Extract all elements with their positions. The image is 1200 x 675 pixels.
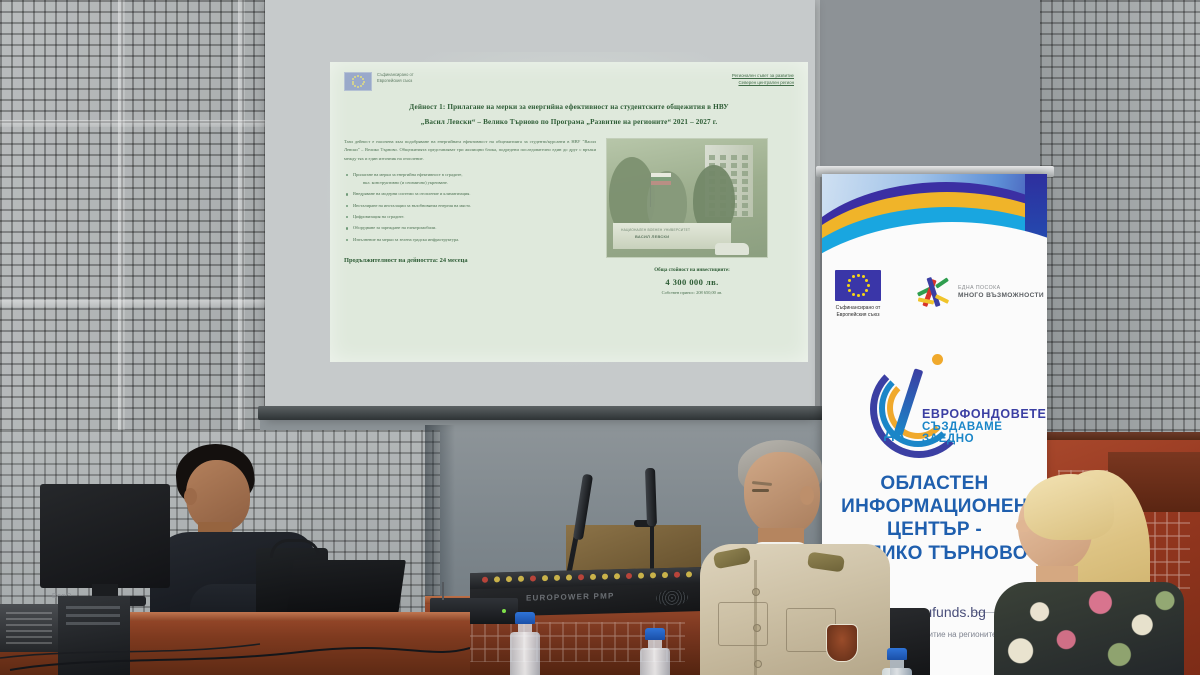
slide-bullet: Инсталиране на инсталации за възобновяем…: [344, 202, 596, 210]
one-direction-line1: ЕДНА ПОСОКА: [958, 285, 1044, 292]
desktop-monitor[interactable]: BenQ: [40, 484, 170, 604]
one-direction-line2: МНОГО ВЪЗМОЖНОСТИ: [958, 292, 1044, 301]
ear: [184, 488, 197, 505]
crossed-strokes-icon: [915, 275, 953, 311]
screen-bottom-bar: [258, 406, 824, 420]
slide-bullet-list: Прилагане на мерки за енергийна ефективн…: [344, 171, 596, 244]
water-bottle[interactable]: [882, 648, 912, 675]
slide-paragraph: Тази дейност е насочена към подобряване …: [344, 138, 596, 164]
slide-bullet: Прилагане на мерки за енергийна ефективн…: [344, 171, 596, 187]
eurofunds-line1: ЕВРОФОНДОВЕТЕ: [922, 408, 1046, 421]
banner-eu-caption-line2: Европейския съюз: [825, 312, 891, 319]
mixer-vent: [656, 589, 688, 606]
photo-vehicle: [715, 243, 749, 255]
conference-room-scene: Съфинансирано от Европейския съюз Регион…: [0, 0, 1200, 675]
investment-amount: 4 300 000 лв.: [606, 275, 778, 290]
slide-bullet: Оборудване за зареждане на електромобили…: [344, 224, 596, 232]
projected-slide: Съфинансирано от Европейския съюз Регион…: [330, 62, 808, 362]
eurofunds-line2: СЪЗДАВАМЕ ЗАЕДНО: [922, 421, 1046, 445]
slide-bullet: Внедряване на модерни системи за отоплен…: [344, 190, 596, 198]
slide-eu-cofinance-line2: Европейския съюз: [377, 78, 414, 84]
eu-flag-icon: [344, 72, 372, 91]
slide-bullet-sub: вкл. конструктивно (и сеизмично) укрепва…: [353, 179, 596, 187]
microphone: [645, 468, 657, 526]
photo-sign-wall: НАЦИОНАЛЕН ВОЕНЕН УНИВЕРСИТЕТ ВАСИЛ ЛЕВС…: [613, 223, 731, 249]
unit-patch: [826, 624, 858, 662]
bulgarian-flag-icon: [651, 173, 671, 185]
floral-blouse: [994, 582, 1184, 675]
water-bottle[interactable]: [510, 612, 540, 675]
slide-bullet: Цифровизация на сградите.: [344, 213, 596, 221]
acoustic-panel-wall-right: [1040, 0, 1200, 470]
council-line2: Северен централен регион: [732, 79, 794, 86]
investment-label: Обща стойност на инвестициите:: [606, 266, 778, 275]
shirt-pocket: [718, 602, 768, 646]
water-bottle[interactable]: [640, 628, 670, 675]
person-attendee: [988, 462, 1200, 675]
slide-title-line2: „Васил Левски“ – Велико Търново по Прогр…: [344, 115, 794, 130]
eye: [752, 489, 769, 492]
slide-bullet: Изпълнение на мерки за зелена градска ин…: [344, 236, 596, 244]
shirt-placket: [754, 560, 757, 675]
own-contribution: Собствен принос: 208 650,00 лв.: [606, 289, 778, 296]
banner-eu-logo: Съфинансирано от Европейския съюз: [825, 270, 891, 320]
investment-block: Обща стойност на инвестициите: 4 300 000…: [606, 266, 778, 297]
slide-title-line1: Дейност 1: Прилагане на мерки за енергий…: [344, 100, 794, 115]
one-direction-logo: ЕДНА ПОСОКА МНОГО ВЪЗМОЖНОСТИ: [915, 270, 1044, 311]
regional-council-label: Регионален съвет за развитие Северен цен…: [732, 72, 794, 86]
antenna: [442, 582, 444, 600]
slide-header: Съфинансирано от Европейския съюз Регион…: [344, 72, 794, 91]
ear: [800, 486, 814, 505]
person-officer: [700, 438, 910, 675]
mixer-brand-label: EUROPOWER PMP: [526, 591, 615, 602]
hair-front: [1024, 474, 1114, 540]
pc-tower[interactable]: [58, 596, 130, 675]
slide-title: Дейност 1: Прилагане на мерки за енергий…: [344, 100, 794, 130]
photo-sign-line1: НАЦИОНАЛЕН ВОЕНЕН УНИВЕРСИТЕТ: [621, 228, 690, 232]
photo-sign-line2: ВАСИЛ ЛЕВСКИ: [635, 234, 669, 239]
power-led: [502, 609, 506, 613]
council-line1: Регионален съвет за развитие: [732, 72, 794, 79]
eu-flag-icon: [835, 270, 881, 301]
slide-duration: Продължителност на дейността: 24 месеца: [344, 257, 596, 264]
campus-photo: НАЦИОНАЛЕН ВОЕНЕН УНИВЕРСИТЕТ ВАСИЛ ЛЕВС…: [606, 138, 768, 258]
eu-emblem-small: Съфинансирано от Европейския съюз: [344, 72, 414, 91]
eurofunds-dot-icon: [932, 354, 943, 365]
equipment-box: [0, 604, 60, 652]
